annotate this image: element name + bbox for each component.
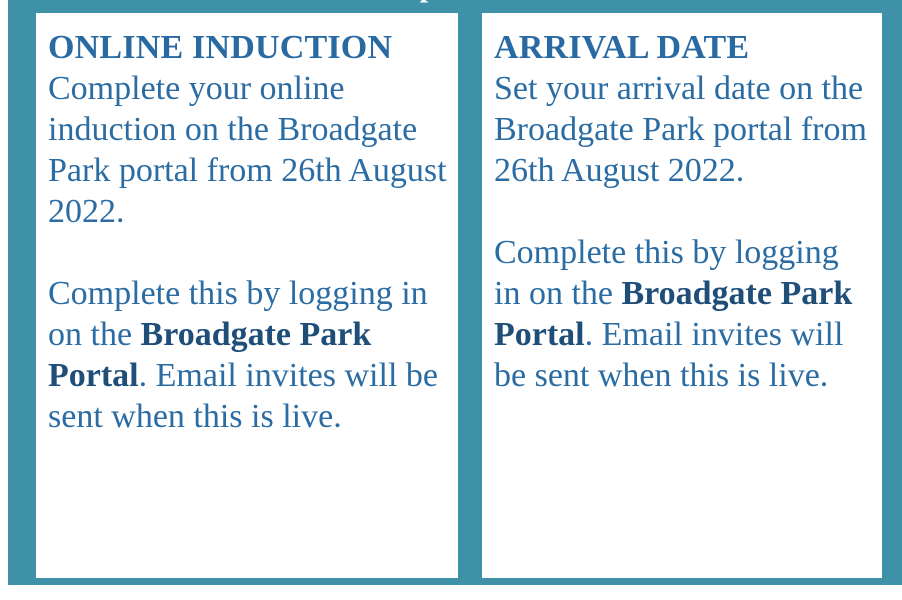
card-row: ONLINE INDUCTION Complete your online in… [36, 13, 882, 578]
card-online-induction-body: ONLINE INDUCTION Complete your online in… [48, 27, 448, 437]
card-arrival-date-text-1: Set your arrival date on the Broadgate P… [494, 70, 867, 189]
card-arrival-date-paragraph-1: ARRIVAL DATE Set your arrival date on th… [494, 27, 872, 191]
card-online-induction-title: ONLINE INDUCTION [48, 27, 448, 68]
card-arrival-date-paragraph-gap [494, 191, 872, 232]
card-online-induction: ONLINE INDUCTION Complete your online in… [36, 13, 458, 578]
card-online-induction-paragraph-1: ONLINE INDUCTION Complete your online in… [48, 27, 448, 232]
bottom-white-margin [0, 585, 902, 600]
card-online-induction-paragraph-gap [48, 232, 448, 273]
slide-canvas: Important ONLINE INDUCTION Complete your… [0, 0, 902, 600]
card-online-induction-paragraph-2: Complete this by logging in on the Broad… [48, 273, 448, 437]
card-arrival-date: ARRIVAL DATE Set your arrival date on th… [482, 13, 882, 578]
card-arrival-date-paragraph-2: Complete this by logging in on the Broad… [494, 232, 872, 396]
card-arrival-date-body: ARRIVAL DATE Set your arrival date on th… [494, 27, 872, 396]
card-arrival-date-title: ARRIVAL DATE [494, 27, 872, 68]
left-edge-white-strip [0, 0, 8, 585]
card-online-induction-text-1: Complete your online induction on the Br… [48, 70, 447, 230]
